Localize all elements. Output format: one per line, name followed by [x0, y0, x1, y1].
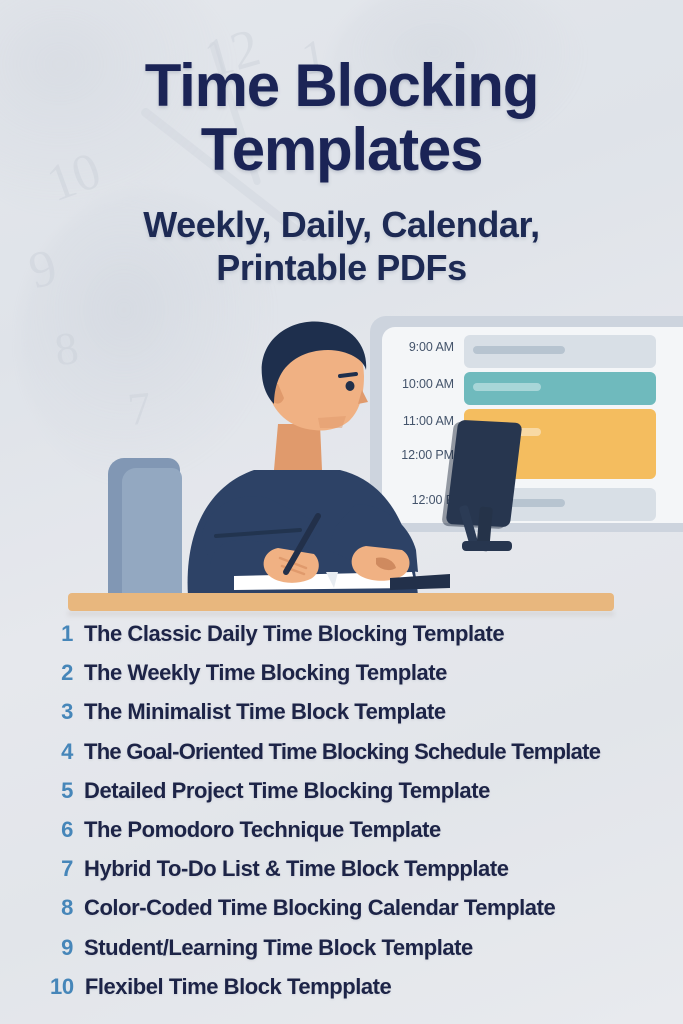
list-item-number: 3 — [50, 699, 84, 725]
page-title-line-2: Templates — [201, 116, 483, 183]
desk-surface — [68, 593, 614, 611]
poster-canvas: 12 1 10 9 8 7 Time Blocking Templates We… — [0, 0, 683, 1024]
calendar-block-bar — [473, 346, 565, 354]
list-item[interactable]: 5 Detailed Project Time Blocking Templat… — [50, 778, 661, 817]
list-item[interactable]: 3 The Minimalist Time Block Template — [50, 699, 661, 738]
list-item-label: The Minimalist Time Block Template — [84, 699, 446, 725]
eye — [346, 381, 355, 391]
jaw-shadow — [318, 416, 346, 428]
page-subtitle: Weekly, Daily, Calendar, Printable PDFs — [0, 204, 683, 289]
list-item-number: 4 — [50, 739, 84, 765]
list-item[interactable]: 2 The Weekly Time Blocking Template — [50, 660, 661, 699]
list-item-number: 5 — [50, 778, 84, 804]
list-item-number: 2 — [50, 660, 84, 686]
list-item-label: Student/Learning Time Block Template — [84, 935, 473, 961]
list-item-label: The Pomodoro Technique Template — [84, 817, 441, 843]
computer-monitor — [442, 421, 522, 553]
page-subtitle-line-2: Printable PDFs — [216, 247, 466, 288]
calendar-block-gray — [464, 335, 656, 368]
neck — [274, 424, 322, 470]
list-item[interactable]: 8 Color-Coded Time Blocking Calendar Tem… — [50, 895, 661, 934]
list-item[interactable]: 9 Student/Learning Time Block Template — [50, 935, 661, 974]
page-title: Time Blocking Templates — [0, 54, 683, 182]
list-item-label: Color-Coded Time Blocking Calendar Templ… — [84, 895, 555, 921]
monitor-base — [462, 541, 512, 551]
illustration: 9:00 AM 10:00 AM 11:00 AM 12:00 PM — [0, 296, 683, 616]
desk-shadow — [68, 611, 614, 616]
eyebrow — [340, 374, 356, 376]
calendar-block-teal — [464, 372, 656, 405]
list-item-number: 10 — [50, 974, 85, 1000]
page-title-line-1: Time Blocking — [145, 52, 538, 119]
list-item-label: The Goal-Oriented Time Blocking Schedule… — [84, 739, 600, 765]
template-list: 1 The Classic Daily Time Blocking Templa… — [0, 621, 683, 1013]
list-item[interactable]: 1 The Classic Daily Time Blocking Templa… — [50, 621, 661, 660]
list-item-label: The Weekly Time Blocking Template — [84, 660, 447, 686]
list-item[interactable]: 10 Flexibel Time Block Tempplate — [50, 974, 661, 1013]
list-item[interactable]: 4 The Goal-Oriented Time Blocking Schedu… — [50, 739, 661, 778]
person-illustration — [150, 320, 450, 596]
list-item[interactable]: 7 Hybrid To-Do List & Time Block Temppla… — [50, 856, 661, 895]
list-item-number: 7 — [50, 856, 84, 882]
list-item-number: 6 — [50, 817, 84, 843]
headline-group: Time Blocking Templates Weekly, Daily, C… — [0, 54, 683, 289]
calendar-block-bar — [473, 383, 541, 391]
list-item-label: Detailed Project Time Blocking Template — [84, 778, 490, 804]
page-subtitle-line-1: Weekly, Daily, Calendar, — [143, 204, 540, 245]
list-item-label: Hybrid To-Do List & Time Block Tempplate — [84, 856, 509, 882]
list-item-label: Flexibel Time Block Tempplate — [85, 974, 391, 1000]
list-item-number: 1 — [50, 621, 84, 647]
list-item[interactable]: 6 The Pomodoro Technique Template — [50, 817, 661, 856]
list-item-label: The Classic Daily Time Blocking Template — [84, 621, 504, 647]
list-item-number: 9 — [50, 935, 84, 961]
list-item-number: 8 — [50, 895, 84, 921]
